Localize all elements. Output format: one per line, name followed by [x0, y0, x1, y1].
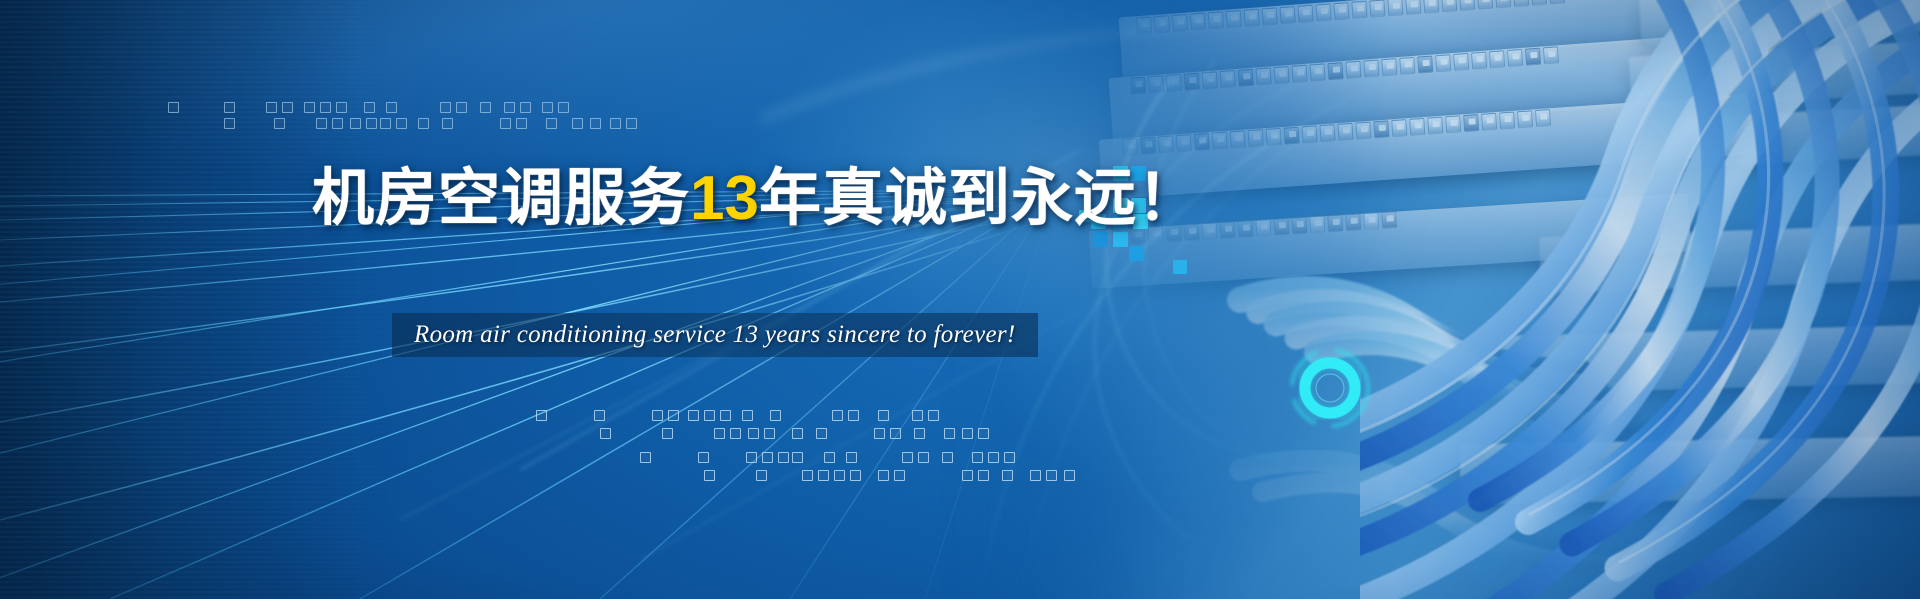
banner-content: 机房空调服务13年真诚到永远！ Room air conditioning se…	[0, 0, 1920, 599]
headline-number: 13	[690, 164, 759, 233]
headline-part-before: 机房空调服务	[312, 164, 690, 233]
subtitle-text: Room air conditioning service 13 years s…	[414, 321, 1016, 349]
subtitle-bar: Room air conditioning service 13 years s…	[392, 313, 1038, 357]
headline-part-after: 年真诚到永远	[759, 164, 1137, 233]
hero-banner: 机房空调服务13年真诚到永远！ Room air conditioning se…	[0, 0, 1920, 599]
headline-exclamation: ！	[1137, 164, 1200, 233]
page-title: 机房空调服务13年真诚到永远！	[312, 168, 1200, 230]
